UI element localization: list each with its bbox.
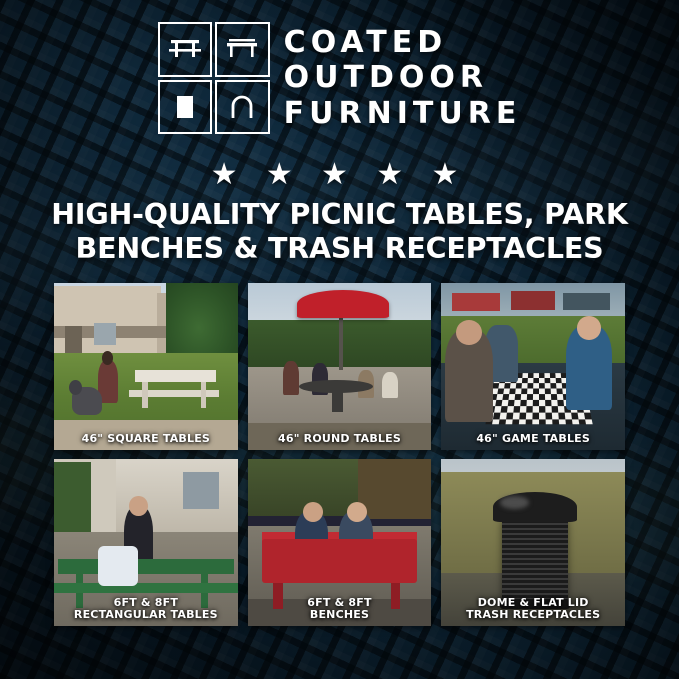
brand-wordmark: COATED OUTDOOR FURNITURE — [284, 26, 522, 131]
tile-caption: DOME & FLAT LID TRASH RECEPTACLES — [441, 597, 625, 622]
tile-caption: 6FT & 8FT BENCHES — [248, 597, 432, 622]
product-tile-rectangular-tables[interactable]: 6FT & 8FT RECTANGULAR TABLES — [54, 459, 238, 626]
headline-line-2: BENCHES & TRASH RECEPTACLES — [30, 232, 649, 266]
headline-line-1: HIGH-QUALITY PICNIC TABLES, PARK — [30, 198, 649, 232]
brand-logo: COATED OUTDOOR FURNITURE — [0, 22, 679, 134]
star-rating: ★ ★ ★ ★ ★ — [0, 160, 679, 190]
logo-mark-icon — [158, 22, 270, 134]
product-tile-trash-receptacles[interactable]: DOME & FLAT LID TRASH RECEPTACLES — [441, 459, 625, 626]
product-tile-game-tables[interactable]: 46" GAME TABLES — [441, 283, 625, 450]
brand-line-3: FURNITURE — [284, 97, 522, 131]
logo-cell-bench-icon — [215, 22, 270, 77]
product-tile-round-tables[interactable]: 46" ROUND TABLES — [248, 283, 432, 450]
tile-caption-line-2: TRASH RECEPTACLES — [466, 608, 600, 621]
tile-photo-game-tables — [441, 283, 625, 450]
product-tile-square-tables[interactable]: 46" SQUARE TABLES — [54, 283, 238, 450]
tile-caption: 46" SQUARE TABLES — [54, 433, 238, 446]
tile-caption-line-1: 6FT & 8FT — [114, 596, 178, 609]
poster-content: COATED OUTDOOR FURNITURE ★ ★ ★ ★ ★ HIGH-… — [0, 0, 679, 679]
tile-caption: 46" ROUND TABLES — [248, 433, 432, 446]
logo-cell-trash-receptacle-icon — [158, 80, 213, 135]
brand-line-2: OUTDOOR — [284, 61, 522, 95]
tile-photo-square-tables — [54, 283, 238, 450]
tile-caption-line-2: BENCHES — [310, 608, 369, 621]
tile-caption-line-1: 6FT & 8FT — [307, 596, 371, 609]
product-tile-grid: 46" SQUARE TABLES 46 — [54, 283, 625, 626]
tile-caption: 6FT & 8FT RECTANGULAR TABLES — [54, 597, 238, 622]
logo-cell-arch-icon — [215, 80, 270, 135]
brand-line-1: COATED — [284, 26, 522, 60]
tile-caption: 46" GAME TABLES — [441, 433, 625, 446]
page-title: HIGH-QUALITY PICNIC TABLES, PARK BENCHES… — [30, 198, 649, 265]
tile-caption-line-2: RECTANGULAR TABLES — [74, 608, 218, 621]
tile-caption-line-1: DOME & FLAT LID — [478, 596, 589, 609]
logo-cell-picnic-table-icon — [158, 22, 213, 77]
product-tile-benches[interactable]: 6FT & 8FT BENCHES — [248, 459, 432, 626]
product-poster: COATED OUTDOOR FURNITURE ★ ★ ★ ★ ★ HIGH-… — [0, 0, 679, 679]
tile-photo-round-tables — [248, 283, 432, 450]
